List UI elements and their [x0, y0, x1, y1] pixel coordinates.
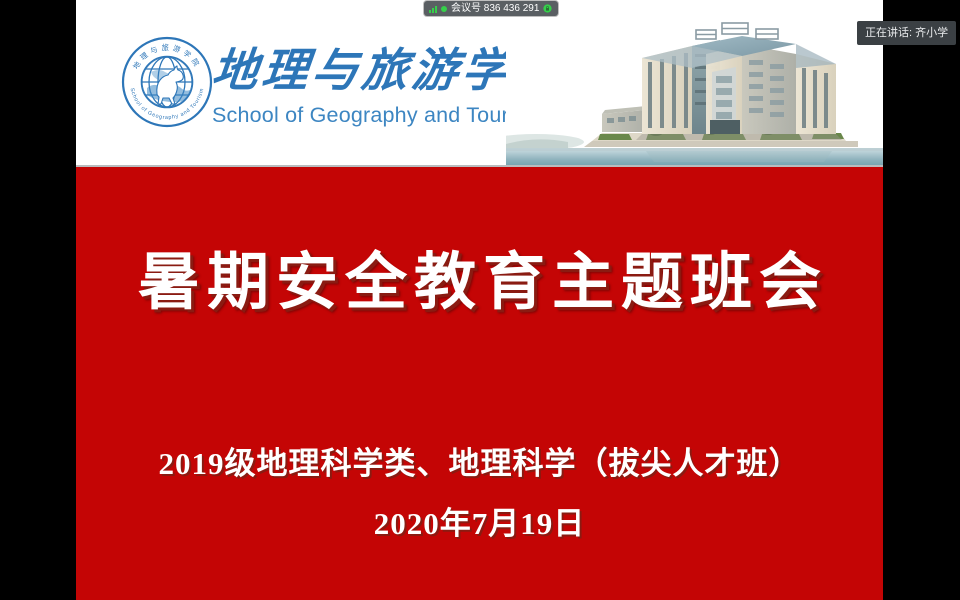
recording-dot-icon — [441, 6, 447, 12]
screen-share-window: 地理与旅游学院 School of Geography and Tourism … — [0, 0, 960, 600]
campus-building-photo — [506, 10, 883, 167]
school-emblem-icon: 地理与旅游学院 School of Geography and Tourism — [121, 36, 213, 128]
slide-header-band: 地理与旅游学院 School of Geography and Tourism … — [76, 0, 883, 167]
slide-subtitle: 2019级地理科学类、地理科学（拔尖人才班） — [76, 443, 883, 485]
active-speaker-label: 正在讲话: 齐小学 — [865, 21, 948, 45]
header-divider — [76, 165, 883, 167]
slide-date: 2020年7月19日 — [76, 503, 883, 545]
active-speaker-badge: 正在讲话: 齐小学 — [857, 21, 956, 45]
meeting-number-label: 会议号 836 436 291 — [451, 1, 539, 16]
lock-icon[interactable] — [543, 4, 552, 13]
meeting-info-pill[interactable]: 会议号 836 436 291 — [424, 1, 558, 16]
presentation-slide: 地理与旅游学院 School of Geography and Tourism … — [76, 0, 883, 600]
slide-title: 暑期安全教育主题班会 — [76, 246, 883, 320]
signal-bars-icon — [429, 5, 437, 13]
